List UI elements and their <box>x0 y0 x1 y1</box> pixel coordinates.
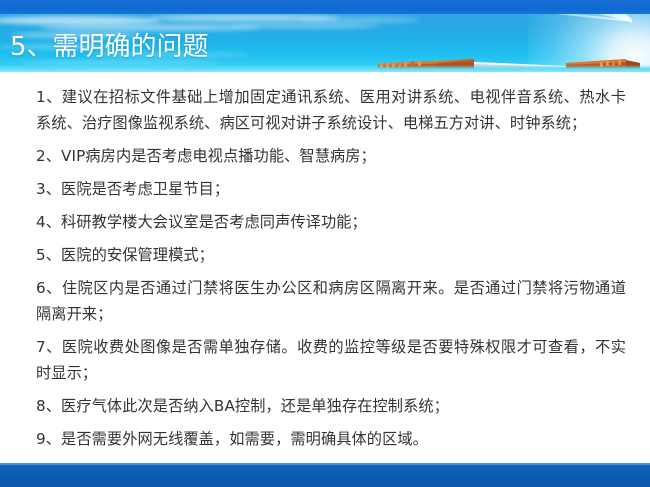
list-item: 4、科研教学楼大会议室是否考虑同声传译功能； <box>36 209 626 235</box>
list-item: 2、VIP病房内是否考虑电视点播功能、智慧病房； <box>36 143 626 169</box>
question-list: 1、建议在招标文件基础上增加固定通讯系统、医用对讲系统、电视伴音系统、热水卡系统… <box>36 84 626 459</box>
list-item: 3、医院是否考虑卫星节目； <box>36 176 626 202</box>
sun-ray <box>444 14 632 22</box>
cloud-shape <box>150 14 340 22</box>
bottom-accent-bar <box>0 463 650 487</box>
cloud-shape <box>300 17 420 23</box>
slide-title: 5、需明确的问题 <box>10 32 209 62</box>
sun-ray <box>399 14 632 22</box>
list-item: 7、医院收费处图像是否需单独存储。收费的监控等级是否要特殊权限才可查看，不实时显… <box>36 334 626 386</box>
list-item: 9、是否需要外网无线覆盖，如需要，需明确具体的区域。 <box>36 426 626 452</box>
sun-glare <box>528 14 650 72</box>
list-item: 6、住院区内是否通过门禁将医生办公区和病房区隔离开来。是否通过门禁将污物通道隔离… <box>36 275 626 327</box>
top-accent-bar <box>0 0 650 14</box>
cloud-shape <box>230 23 380 29</box>
list-item: 8、医疗气体此次是否纳入BA控制，还是单独存在控制系统； <box>36 393 626 419</box>
slide-content-area: 1、建议在招标文件基础上增加固定通讯系统、医用对讲系统、电视伴音系统、热水卡系统… <box>0 72 650 463</box>
cloud-shape <box>40 24 260 31</box>
building-silhouette-icon <box>378 54 650 70</box>
sun-ray <box>483 14 632 22</box>
list-item: 5、医院的安保管理模式； <box>36 242 626 268</box>
sun-ray <box>464 14 633 22</box>
horizon-glow <box>0 65 650 72</box>
bottom-bar-highlight <box>0 463 650 465</box>
list-item: 1、建议在招标文件基础上增加固定通讯系统、医用对讲系统、电视伴音系统、热水卡系统… <box>36 84 626 136</box>
cloud-shape <box>0 16 160 25</box>
presentation-slide: 5、需明确的问题 1、建议在招标文件基础上增加固定通讯系统、医用对讲系统、电视伴… <box>0 0 650 487</box>
sun-ray <box>364 14 632 23</box>
